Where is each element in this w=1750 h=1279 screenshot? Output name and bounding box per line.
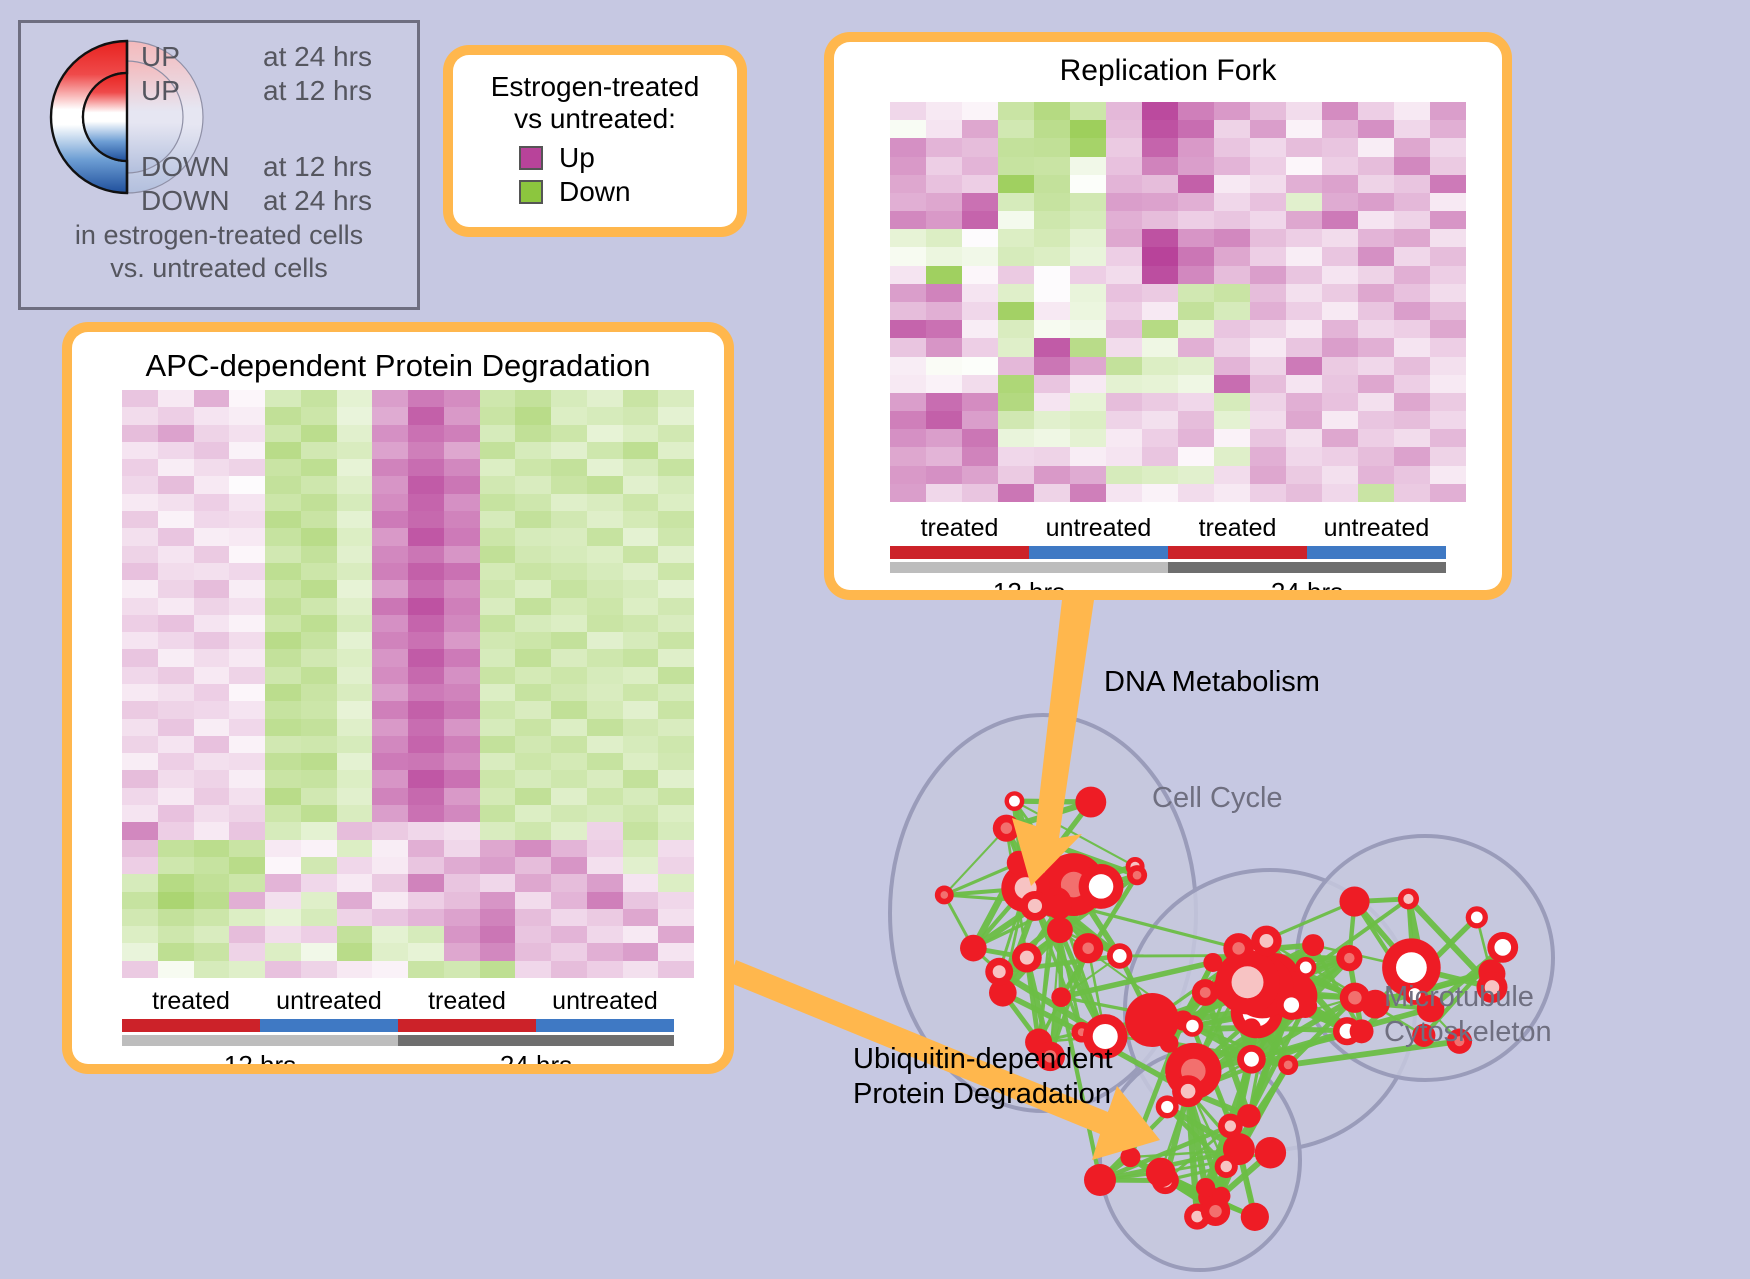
heatmap-cell [408,546,444,563]
heatmap-cell [962,284,998,302]
heatmap-cell [444,805,480,822]
heatmap-cell [1106,138,1142,156]
heatmap-cell [1250,229,1286,247]
heatmap-cell [408,494,444,511]
network-node-core [1471,911,1483,923]
heatmap-cell [122,632,158,649]
heatmap-cell [1214,175,1250,193]
heatmap-cell [444,615,480,632]
up-swatch-icon [519,146,543,170]
heatmap-cell [194,459,230,476]
heatmap-cell [890,138,926,156]
treated-bar [1168,546,1307,559]
heatmap-cell [623,580,659,597]
heatmap-cell [658,649,694,666]
heatmap-cell [998,120,1034,138]
cluster-label-dna-metabolism: DNA Metabolism [1104,666,1320,699]
time-label-row: 12 hrs 24 hrs [122,1050,674,1064]
heatmap-cell [623,667,659,684]
heatmap-cell [1322,429,1358,447]
heatmap-cell [1214,393,1250,411]
heatmap-cell [1322,466,1358,484]
heatmap-cell [372,563,408,580]
heatmap-cell [265,580,301,597]
heatmap-cell [1178,302,1214,320]
heatmap-cell [265,615,301,632]
network-node [1075,787,1106,818]
heatmap-cell [265,407,301,424]
heatmap-cell [1034,357,1070,375]
heatmap-cell [1034,338,1070,356]
heatmap-cell [1214,411,1250,429]
heatmap-cell [444,857,480,874]
heatmap-cell [408,736,444,753]
heatmap-cell [623,892,659,909]
network-node [1084,1164,1116,1196]
heatmap-cell [1214,120,1250,138]
heatmap-cell [444,580,480,597]
heatmap-cell [1106,211,1142,229]
heatmap-cell [372,511,408,528]
heatmap-cell [515,943,551,960]
heatmap-cell [229,546,265,563]
heatmap-cell [1034,175,1070,193]
heatmap-cell [229,719,265,736]
heatmap-cell [265,822,301,839]
heatmap-cell [122,425,158,442]
heatmap-cell [337,511,373,528]
heatmap-cell [1250,357,1286,375]
heatmap-cell [1394,320,1430,338]
heatmap-cell [658,961,694,978]
heatmap-cell [194,874,230,891]
heatmap-cell [265,546,301,563]
heatmap-cell [372,788,408,805]
time-label-row: 12 hrs 24 hrs [890,577,1446,590]
heatmap-cell [229,874,265,891]
heatmap-cell [480,442,516,459]
heatmap-cell [337,494,373,511]
heatmap-cell [301,719,337,736]
heatmap-cell [229,961,265,978]
treatment-bar-row [890,546,1446,559]
heatmap-cell [551,857,587,874]
heatmap-cell [337,840,373,857]
heatmap-cell [1286,284,1322,302]
heatmap-cell [408,892,444,909]
colorbar-time: at 24 hrs [263,41,372,73]
heatmap-cell [1394,393,1430,411]
heatmap-cell [158,390,194,407]
heatmap-cell [623,840,659,857]
heatmap-cell [623,528,659,545]
heatmap-cell [122,926,158,943]
heatmap-cell [194,632,230,649]
heatmap-cell [1430,211,1466,229]
heatmap-cell [515,857,551,874]
heatmap-cell [587,598,623,615]
heatmap-cell [444,719,480,736]
network-node-core [1300,962,1312,974]
heatmap-cell [1430,193,1466,211]
heatmap-cell [1322,138,1358,156]
heatmap-cell [890,466,926,484]
heatmap-cell [658,632,694,649]
heatmap-cell [587,459,623,476]
heatmap-cell [408,684,444,701]
heatmap-cell [301,494,337,511]
heatmap-cell [480,425,516,442]
heatmap-cell [1358,338,1394,356]
heatmap-cell [890,102,926,120]
heatmap-cell [515,770,551,787]
network-node-core [1396,952,1427,983]
heatmap-cell [158,961,194,978]
heatmap-cell [1178,484,1214,502]
heatmap-cell [998,429,1034,447]
network-node-core [1089,874,1114,899]
heatmap-cell [337,788,373,805]
colorbar-row: DOWN at 12 hrs [141,151,372,183]
heatmap-cell [658,684,694,701]
heatmap-cell [623,649,659,666]
heatmap-cell [1214,338,1250,356]
heatmap-cell [229,892,265,909]
time-bar-12hrs [890,562,1168,573]
heatmap-cell [1250,447,1286,465]
heatmap-cell [229,615,265,632]
heatmap-cell [194,892,230,909]
heatmap-cell [890,338,926,356]
heatmap-cell [480,407,516,424]
heatmap-cell [1394,447,1430,465]
heatmap-cell [122,546,158,563]
heatmap-cell [1250,393,1286,411]
heatmap-cell [1214,247,1250,265]
heatmap-cell [372,857,408,874]
heatmap-cell [158,805,194,822]
heatmap-cell [1034,247,1070,265]
heatmap-cell [122,909,158,926]
heatmap-cell [301,425,337,442]
heatmap-cell [480,390,516,407]
panel-title-apc: APC-dependent Protein Degradation [72,332,724,384]
heatmap-cell [1250,320,1286,338]
heatmap-cell [372,961,408,978]
heatmap-cell [962,175,998,193]
network-diagram [800,620,1750,1279]
time-bar-row [122,1035,674,1046]
heatmap-cell [158,753,194,770]
heatmap-cell [265,494,301,511]
heatmap-cell [1142,193,1178,211]
group-label: untreated [260,987,398,1016]
heatmap-cell [1322,229,1358,247]
heatmap-cell [1070,302,1106,320]
heatmap-cell [1286,447,1322,465]
network-node [1120,1147,1140,1167]
heatmap-cell [1214,102,1250,120]
heatmap-cell [1358,447,1394,465]
group-label: treated [890,514,1029,543]
colorbar-time: at 12 hrs [263,75,372,107]
heatmap-cell [122,649,158,666]
heatmap-cell [1214,466,1250,484]
heatmap-cell [890,266,926,284]
heatmap-cell [1142,466,1178,484]
heatmap-cell [229,598,265,615]
heatmap-cell [1106,429,1142,447]
cluster-label-microtubule-cytoskeleton: Microtubule Cytoskeleton [1384,980,1552,1050]
heatmap-cell [337,874,373,891]
heatmap-cell [515,580,551,597]
heatmap-grid [890,102,1466,502]
heatmap-cell [194,909,230,926]
heatmap-cell [229,442,265,459]
heatmap-cell [408,822,444,839]
heatmap-cell [122,476,158,493]
figure-canvas: UP at 24 hrs UP at 12 hrs DOWN at 12 hrs… [0,0,1750,1279]
heatmap-cell [1250,338,1286,356]
network-node-core [1009,796,1020,807]
heatmap-cell [515,615,551,632]
heatmap-cell [551,425,587,442]
heatmap-cell [623,425,659,442]
heatmap-cell [480,753,516,770]
heatmap-cell [337,615,373,632]
heatmap-cell [998,247,1034,265]
heatmap-cell [1214,484,1250,502]
heatmap-cell [551,632,587,649]
heatmap-cell [1394,411,1430,429]
heatmap-cell [158,788,194,805]
heatmap-cell [158,684,194,701]
heatmap-cell [658,840,694,857]
heatmap-cell [998,320,1034,338]
network-node-core [1209,1205,1221,1217]
heatmap-cell [1358,247,1394,265]
heatmap-cell [962,102,998,120]
group-label: treated [398,987,536,1016]
heatmap-cell [962,320,998,338]
heatmap-cell [587,926,623,943]
heatmap-cell [194,580,230,597]
time-label: 24 hrs [398,1050,674,1064]
heatmap-cell [265,788,301,805]
heatmap-cell [587,805,623,822]
heatmap-cell [265,719,301,736]
heatmap-cell [122,788,158,805]
heatmap-cell [337,822,373,839]
heatmap-cell [551,476,587,493]
heatmap-cell [658,580,694,597]
heatmap-cell [1070,411,1106,429]
heatmap-cell [194,425,230,442]
colorbar-keyword: DOWN [141,185,263,217]
heatmap-cell [623,961,659,978]
heatmap-cell [962,193,998,211]
heatmap-cell [551,701,587,718]
heatmap-cell [1322,357,1358,375]
heatmap-cell [515,874,551,891]
heatmap-cell [1358,157,1394,175]
heatmap-cell [1394,466,1430,484]
heatmap-cell [1250,211,1286,229]
heatmap-cell [122,615,158,632]
heatmap-cell [515,840,551,857]
network-node [1302,934,1324,956]
network-node-core [1232,966,1264,998]
heatmap-cell [515,926,551,943]
heatmap-cell [229,788,265,805]
heatmap-cell [587,390,623,407]
heatmap-cell [1178,284,1214,302]
heatmap-cell [1106,284,1142,302]
heatmap-cell [480,684,516,701]
heatmap-cell [890,320,926,338]
network-node [1125,993,1179,1047]
heatmap-cell [158,442,194,459]
heatmap-cell [444,511,480,528]
heatmap-cell [1394,302,1430,320]
network-node [1047,894,1072,919]
heatmap-cell [194,390,230,407]
heatmap-cell [122,459,158,476]
heatmap-cell [158,874,194,891]
heatmap-cell [408,390,444,407]
heatmap-cell [1142,338,1178,356]
heatmap-cell [1106,466,1142,484]
heatmap-cell [1106,447,1142,465]
time-label: 12 hrs [890,577,1168,590]
heatmap-cell [1430,375,1466,393]
heatmap-cell [623,546,659,563]
heatmap-cell [265,770,301,787]
heatmap-cell [337,442,373,459]
heatmap-cell [1430,157,1466,175]
heatmap-cell [515,736,551,753]
heatmap-cell [926,466,962,484]
heatmap-cell [926,120,962,138]
heatmap-cell [587,615,623,632]
heatmap-cell [122,892,158,909]
heatmap-cell [587,580,623,597]
heatmap-cell [551,840,587,857]
heatmap-cell [444,598,480,615]
heatmap-cell [1142,120,1178,138]
heatmap-cell [1358,266,1394,284]
heatmap-cell [408,719,444,736]
heatmap-cell [962,157,998,175]
heatmap-cell [1250,302,1286,320]
heatmap-cell [1394,157,1430,175]
heatmap-cell [998,138,1034,156]
heatmap-cell [1214,157,1250,175]
heatmap-cell [444,546,480,563]
heatmap-cell [1430,229,1466,247]
heatmap-cell [158,425,194,442]
legend-label-up: Up [559,142,595,174]
heatmap-cell [408,407,444,424]
heatmap-cell [337,390,373,407]
down-swatch-icon [519,180,543,204]
heatmap-cell [1034,393,1070,411]
heatmap-cell [408,874,444,891]
heatmap-cell [587,753,623,770]
heatmap-cell [122,684,158,701]
heatmap-cell [1430,266,1466,284]
heatmap-cell [480,580,516,597]
heatmap-cell [926,375,962,393]
treated-bar [890,546,1029,559]
heatmap-cell [444,753,480,770]
heatmap-cell [587,407,623,424]
heatmap-cell [890,429,926,447]
heatmap-cell [587,943,623,960]
heatmap-cell [408,459,444,476]
heatmap-cell [1178,466,1214,484]
heatmap-cell [337,857,373,874]
heatmap-cell [122,390,158,407]
heatmap-cell [1034,157,1070,175]
heatmap-cell [337,961,373,978]
heatmap-cell [551,736,587,753]
heatmap-cell [551,649,587,666]
heatmap-cell [515,719,551,736]
heatmap-cell [158,701,194,718]
heatmap-cell [301,701,337,718]
heatmap-cell [265,598,301,615]
heatmap-cell [1250,247,1286,265]
heatmap-cell [515,961,551,978]
heatmap-cell [587,701,623,718]
heatmap-cell [1142,320,1178,338]
heatmap-cell [229,511,265,528]
heatmap-cell [122,563,158,580]
panel-title-replication-fork: Replication Fork [834,42,1502,88]
heatmap-cell [1430,138,1466,156]
heatmap-cell [122,805,158,822]
network-node [1339,886,1369,916]
heatmap-cell [122,442,158,459]
heatmap-cell [623,390,659,407]
heatmap-cell [444,943,480,960]
heatmap-cell [1286,393,1322,411]
heatmap-cell [265,701,301,718]
heatmap-cell [515,476,551,493]
heatmap-cell [194,840,230,857]
heatmap-cell [623,822,659,839]
heatmap-cell [551,874,587,891]
heatmap-cell [1142,284,1178,302]
heatmap-cell [515,701,551,718]
heatmap-cell [408,649,444,666]
heatmap-cell [122,580,158,597]
heatmap-cell [480,632,516,649]
heatmap-cell [587,892,623,909]
heatmap-cell [551,511,587,528]
heatmap-cell [658,736,694,753]
heatmap-cell [229,822,265,839]
heatmap-cell [158,926,194,943]
heatmap-cell [301,598,337,615]
heatmap-cell [1106,484,1142,502]
heatmap-cell [1178,429,1214,447]
heatmap-cell [1322,338,1358,356]
network-node-core [1344,953,1354,963]
heatmap-cell [1430,447,1466,465]
colorbar-row: UP at 12 hrs [141,75,372,107]
